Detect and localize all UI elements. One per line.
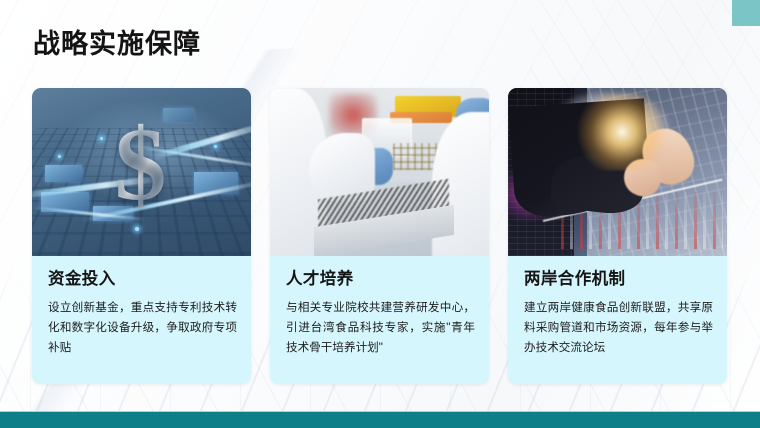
card-talent[interactable]: 人才培养 与相关专业院校共建营养研发中心，引进台湾食品科技专家，实施"青年技术骨… xyxy=(270,88,489,384)
card-cooperation-body: 两岸合作机制 建立两岸健康食品创新联盟，共享原料采购管道和市场资源，每年参与举办… xyxy=(508,256,727,384)
card-funding-image: $ xyxy=(32,88,251,256)
circuit-led xyxy=(100,137,103,140)
card-funding[interactable]: $ 资金投入 设立创新基金，重点支持专利技术转化和数字化设备升级，争取政府专项补… xyxy=(32,88,251,384)
card-talent-title: 人才培养 xyxy=(286,270,475,290)
card-cooperation[interactable]: 两岸合作机制 建立两岸健康食品创新联盟，共享原料采购管道和市场资源，每年参与举办… xyxy=(508,88,727,384)
card-grid: $ 资金投入 设立创新基金，重点支持专利技术转化和数字化设备升级，争取政府专项补… xyxy=(32,88,728,384)
bottom-accent-bar xyxy=(0,412,760,428)
lab-coat-sleeve xyxy=(309,133,375,200)
slide-root: 战略实施保障 xyxy=(0,0,760,428)
dollar-circuit-photo: $ xyxy=(32,88,251,256)
card-talent-text: 与相关专业院校共建营养研发中心，引进台湾食品科技专家，实施"青年技术骨干培养计划… xyxy=(286,298,475,358)
card-cooperation-text: 建立两岸健康食品创新联盟，共享原料采购管道和市场资源，每年参与举办技术交流论坛 xyxy=(524,298,713,358)
card-funding-body: 资金投入 设立创新基金，重点支持专利技术转化和数字化设备升级，争取政府专项补贴 xyxy=(32,256,251,384)
card-funding-text: 设立创新基金，重点支持专利技术转化和数字化设备升级，争取政府专项补贴 xyxy=(48,298,237,358)
card-talent-image xyxy=(270,88,489,256)
golden-light-flare xyxy=(572,93,673,170)
card-cooperation-title: 两岸合作机制 xyxy=(524,270,713,290)
circuit-chip xyxy=(163,108,194,121)
corner-accent-square xyxy=(732,0,760,26)
card-funding-title: 资金投入 xyxy=(48,270,237,290)
circuit-led xyxy=(214,145,217,148)
page-title: 战略实施保障 xyxy=(33,28,201,62)
handshake-photo xyxy=(508,88,727,256)
circuit-chip xyxy=(45,165,82,182)
card-cooperation-image xyxy=(508,88,727,256)
card-talent-body: 人才培养 与相关专业院校共建营养研发中心，引进台湾食品科技专家，实施"青年技术骨… xyxy=(270,256,489,384)
laboratory-photo xyxy=(270,88,489,256)
dollar-sign-icon: $ xyxy=(114,113,166,217)
